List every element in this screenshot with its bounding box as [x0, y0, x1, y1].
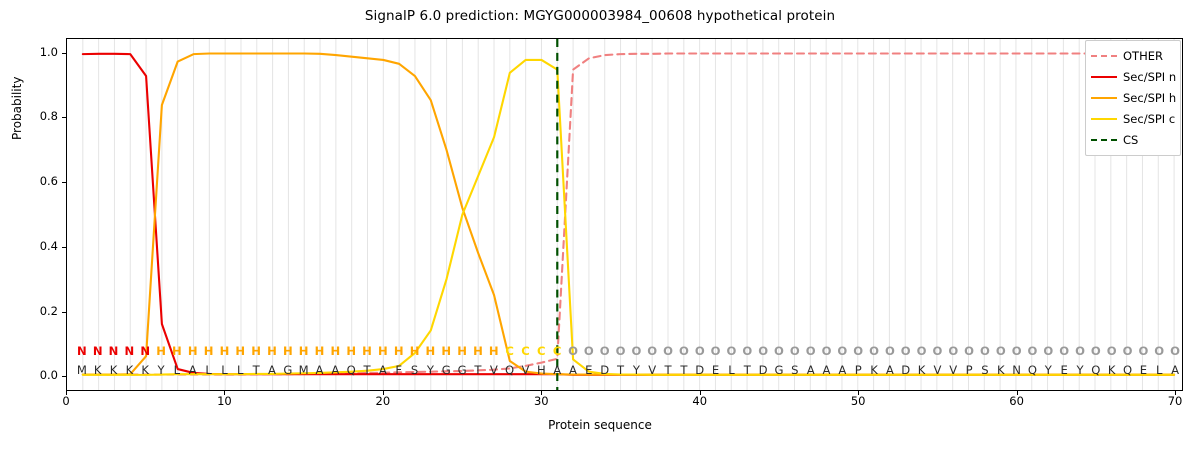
legend: OTHERSec/SPI nSec/SPI hSec/SPI cCS: [1085, 40, 1181, 156]
residue-state-label: H: [185, 344, 201, 358]
plot-canvas: [67, 39, 1182, 390]
residue-letter: E: [1056, 363, 1072, 377]
x-tick-label: 20: [363, 394, 403, 408]
residue-state-label: O: [597, 344, 613, 358]
residue-state-label: O: [1040, 344, 1056, 358]
grid-lines: [83, 39, 1174, 390]
residue-letter: Q: [502, 363, 518, 377]
residue-letter: L: [723, 363, 739, 377]
residue-letter: M: [74, 363, 90, 377]
residue-state-label: O: [739, 344, 755, 358]
legend-swatch-sec-spi-h: [1091, 92, 1117, 104]
residue-state-label: H: [169, 344, 185, 358]
residue-letter: A: [834, 363, 850, 377]
residue-letter: F: [391, 363, 407, 377]
residue-letter: V: [517, 363, 533, 377]
legend-item-sec-spi-n[interactable]: Sec/SPI n: [1091, 66, 1175, 87]
residue-letter: K: [993, 363, 1009, 377]
residue-letter: D: [898, 363, 914, 377]
residue-state-label: O: [1104, 344, 1120, 358]
residue-letter: T: [248, 363, 264, 377]
residue-letter: N: [1009, 363, 1025, 377]
residue-state-label: O: [961, 344, 977, 358]
residue-state-label: N: [74, 344, 90, 358]
residue-state-label: O: [676, 344, 692, 358]
y-tick-label: 0.4: [0, 239, 58, 253]
residue-letter: G: [438, 363, 454, 377]
residue-state-label: O: [692, 344, 708, 358]
legend-label: CS: [1123, 133, 1138, 147]
residue-state-label: O: [708, 344, 724, 358]
residue-state-label: N: [137, 344, 153, 358]
residue-state-label: O: [1009, 344, 1025, 358]
residue-state-label: H: [201, 344, 217, 358]
residue-letter: V: [929, 363, 945, 377]
residue-letter: D: [597, 363, 613, 377]
page-title: SignalP 6.0 prediction: MGYG000003984_00…: [0, 8, 1200, 24]
residue-state-label: O: [993, 344, 1009, 358]
residue-state-label: O: [977, 344, 993, 358]
residue-letter: S: [787, 363, 803, 377]
residue-letter: P: [961, 363, 977, 377]
residue-letter: V: [644, 363, 660, 377]
residue-letter: E: [1135, 363, 1151, 377]
x-axis-label: Protein sequence: [0, 418, 1200, 432]
residue-letter: Q: [1024, 363, 1040, 377]
x-tick-mark: [1017, 391, 1018, 395]
residue-letter: Y: [628, 363, 644, 377]
residue-state-label: H: [470, 344, 486, 358]
residue-state-label: O: [1088, 344, 1104, 358]
residue-state-label: O: [882, 344, 898, 358]
legend-item-sec-spi-c[interactable]: Sec/SPI c: [1091, 108, 1175, 129]
residue-state-label: O: [898, 344, 914, 358]
x-tick-mark: [858, 391, 859, 395]
legend-label: Sec/SPI c: [1123, 112, 1175, 126]
x-tick-label: 40: [680, 394, 720, 408]
residue-state-label: O: [929, 344, 945, 358]
residue-letter: Y: [153, 363, 169, 377]
residue-letter: K: [914, 363, 930, 377]
residue-state-label: N: [121, 344, 137, 358]
residue-letter: H: [533, 363, 549, 377]
residue-state-label: H: [438, 344, 454, 358]
residue-state-label: H: [248, 344, 264, 358]
residue-state-label: O: [1135, 344, 1151, 358]
x-tick-mark: [66, 391, 67, 395]
residue-letter: Y: [1072, 363, 1088, 377]
x-tick-label: 0: [46, 394, 86, 408]
residue-state-label: H: [359, 344, 375, 358]
residue-state-label: N: [90, 344, 106, 358]
residue-state-label: O: [613, 344, 629, 358]
residue-state-label: O: [1056, 344, 1072, 358]
legend-label: Sec/SPI h: [1123, 91, 1176, 105]
residue-letter: L: [232, 363, 248, 377]
residue-state-label: N: [106, 344, 122, 358]
residue-letter: A: [819, 363, 835, 377]
residue-state-label: H: [486, 344, 502, 358]
x-tick-label: 60: [997, 394, 1037, 408]
residue-state-label: O: [850, 344, 866, 358]
residue-state-label: O: [1024, 344, 1040, 358]
residue-letter: T: [676, 363, 692, 377]
y-tick-label: 1.0: [0, 45, 58, 59]
residue-state-label: O: [834, 344, 850, 358]
y-tick-label: 0.2: [0, 304, 58, 318]
x-tick-label: 50: [838, 394, 878, 408]
residue-letter: A: [264, 363, 280, 377]
legend-swatch-cs: [1091, 134, 1117, 146]
residue-letter: Y: [422, 363, 438, 377]
residue-letter: G: [280, 363, 296, 377]
signalp-prediction-figure: SignalP 6.0 prediction: MGYG000003984_00…: [0, 0, 1200, 450]
residue-state-label: O: [945, 344, 961, 358]
residue-state-label: H: [312, 344, 328, 358]
residue-letter: Y: [1040, 363, 1056, 377]
residue-letter: K: [90, 363, 106, 377]
residue-letter: L: [216, 363, 232, 377]
legend-item-cs[interactable]: CS: [1091, 129, 1175, 150]
residue-letter: Q: [1088, 363, 1104, 377]
residue-letter: K: [106, 363, 122, 377]
y-tick-label: 0.6: [0, 174, 58, 188]
series-line-sec-spi-c: [83, 60, 1174, 375]
residue-state-label: H: [327, 344, 343, 358]
residue-state-label: C: [533, 344, 549, 358]
x-tick-mark: [541, 391, 542, 395]
residue-letter: A: [312, 363, 328, 377]
plot-area: [66, 38, 1183, 391]
y-tick-label: 0.0: [0, 368, 58, 382]
y-tick-label: 0.8: [0, 109, 58, 123]
residue-letter: D: [692, 363, 708, 377]
residue-letter: G: [771, 363, 787, 377]
residue-state-label: O: [787, 344, 803, 358]
residue-state-label: H: [216, 344, 232, 358]
residue-state-label: O: [866, 344, 882, 358]
residue-state-label: O: [1167, 344, 1183, 358]
residue-letter: T: [660, 363, 676, 377]
residue-state-label: O: [771, 344, 787, 358]
residue-letter: S: [977, 363, 993, 377]
residue-letter: T: [470, 363, 486, 377]
residue-state-label: O: [565, 344, 581, 358]
residue-letter: P: [850, 363, 866, 377]
residue-letter: S: [407, 363, 423, 377]
residue-letter: A: [549, 363, 565, 377]
residue-state-label: H: [343, 344, 359, 358]
residue-letter: A: [1167, 363, 1183, 377]
residue-letter: A: [327, 363, 343, 377]
residue-letter: L: [1151, 363, 1167, 377]
residue-state-label: O: [1151, 344, 1167, 358]
residue-state-label: C: [517, 344, 533, 358]
x-tick-label: 70: [1155, 394, 1195, 408]
legend-item-sec-spi-h[interactable]: Sec/SPI h: [1091, 87, 1175, 108]
residue-letter: M: [296, 363, 312, 377]
residue-state-label: H: [264, 344, 280, 358]
residue-state-label: O: [660, 344, 676, 358]
residue-state-label: H: [391, 344, 407, 358]
residue-letter: A: [882, 363, 898, 377]
residue-state-label: H: [422, 344, 438, 358]
residue-letter: T: [359, 363, 375, 377]
x-tick-label: 10: [204, 394, 244, 408]
residue-state-label: H: [375, 344, 391, 358]
residue-state-label: O: [723, 344, 739, 358]
residue-state-label: O: [819, 344, 835, 358]
residue-letter: A: [375, 363, 391, 377]
legend-swatch-sec-spi-c: [1091, 113, 1117, 125]
residue-letter: G: [454, 363, 470, 377]
residue-letter: A: [803, 363, 819, 377]
residue-letter: A: [185, 363, 201, 377]
residue-state-label: O: [1072, 344, 1088, 358]
residue-letter: K: [121, 363, 137, 377]
residue-state-label: O: [1120, 344, 1136, 358]
residue-letter: K: [866, 363, 882, 377]
residue-letter: T: [739, 363, 755, 377]
legend-label: OTHER: [1123, 49, 1163, 63]
residue-state-label: O: [644, 344, 660, 358]
residue-state-label: H: [454, 344, 470, 358]
residue-letter: A: [565, 363, 581, 377]
residue-letter: V: [945, 363, 961, 377]
x-tick-mark: [224, 391, 225, 395]
residue-state-label: H: [153, 344, 169, 358]
series-line-sec-spi-h: [83, 53, 1174, 374]
series-line-other: [83, 53, 1174, 374]
legend-swatch-other: [1091, 50, 1117, 62]
residue-letter: E: [581, 363, 597, 377]
residue-letter: E: [708, 363, 724, 377]
residue-letter: D: [755, 363, 771, 377]
residue-state-label: H: [407, 344, 423, 358]
legend-label: Sec/SPI n: [1123, 70, 1176, 84]
residue-letter: K: [1104, 363, 1120, 377]
residue-state-label: O: [628, 344, 644, 358]
residue-letter: T: [613, 363, 629, 377]
residue-state-label: H: [280, 344, 296, 358]
residue-state-label: H: [296, 344, 312, 358]
x-tick-label: 30: [521, 394, 561, 408]
legend-item-other[interactable]: OTHER: [1091, 45, 1175, 66]
residue-state-label: O: [581, 344, 597, 358]
residue-state-label: C: [549, 344, 565, 358]
residue-state-label: C: [502, 344, 518, 358]
x-tick-mark: [383, 391, 384, 395]
residue-state-label: O: [755, 344, 771, 358]
residue-letter: V: [486, 363, 502, 377]
series-line-sec-spi-n: [83, 54, 1174, 375]
residue-state-label: H: [232, 344, 248, 358]
residue-letter: Q: [1120, 363, 1136, 377]
x-tick-mark: [1175, 391, 1176, 395]
residue-letter: K: [137, 363, 153, 377]
x-tick-mark: [700, 391, 701, 395]
legend-swatch-sec-spi-n: [1091, 71, 1117, 83]
residue-letter: L: [169, 363, 185, 377]
residue-state-label: O: [803, 344, 819, 358]
residue-state-label: O: [914, 344, 930, 358]
residue-letter: Q: [343, 363, 359, 377]
residue-letter: L: [201, 363, 217, 377]
